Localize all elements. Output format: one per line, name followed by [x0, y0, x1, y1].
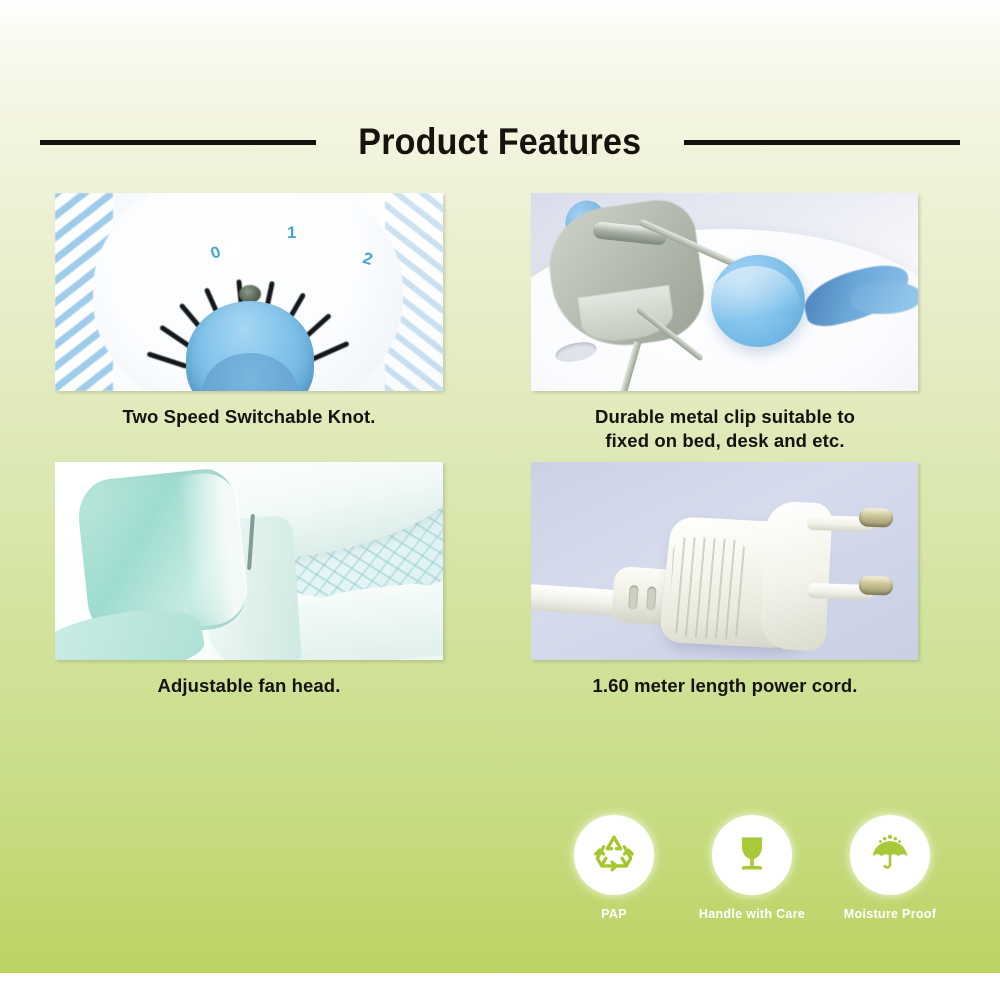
badge-pap: PAP: [556, 815, 672, 921]
dial-label-1: 1: [287, 223, 296, 243]
feature-photo-speed-knob: 0 1 2: [55, 193, 443, 391]
badge-label: Handle with Care: [699, 907, 805, 921]
plug-pin-tip-bottom: [859, 575, 894, 595]
badge-handle-with-care: Handle with Care: [694, 815, 810, 921]
feature-item-metal-clip: Durable metal clip suitable to fixed on …: [531, 193, 919, 452]
feature-caption-metal-clip: Durable metal clip suitable to fixed on …: [531, 405, 919, 452]
feature-item-fan-head: Adjustable fan head.: [55, 462, 443, 698]
badge-circle: [574, 815, 654, 895]
badge-circle: [850, 815, 930, 895]
feature-photo-fan-head: [55, 462, 443, 660]
feature-item-speed-knob: 0 1 2 Two Speed Switchable Knot.: [55, 193, 443, 429]
feature-caption-speed-knob: Two Speed Switchable Knot.: [55, 405, 443, 429]
feature-caption-power-cord: 1.60 meter length power cord.: [531, 674, 919, 698]
umbrella-icon: [868, 831, 912, 880]
dial-label-0: 0: [208, 242, 224, 264]
badge-label: PAP: [601, 907, 627, 921]
plug-grip-ribs: [668, 536, 747, 640]
dial-tick: [147, 351, 188, 369]
product-features-infographic: Product Features 0: [0, 0, 1000, 1000]
badge-circle: [712, 815, 792, 895]
dial-label-2: 2: [360, 248, 375, 270]
badge-label: Moisture Proof: [844, 907, 936, 921]
caption-line-1: Two Speed Switchable Knot.: [122, 406, 375, 427]
feature-caption-fan-head: Adjustable fan head.: [55, 674, 443, 698]
feature-item-power-cord: 1.60 meter length power cord.: [531, 462, 919, 698]
handling-badges: PAP Handle with Care: [556, 815, 948, 945]
feature-photo-metal-clip: [531, 193, 918, 391]
speed-dial: 0 1 2: [115, 205, 385, 391]
caption-line-1: Durable metal clip suitable to: [531, 405, 919, 429]
recycling-icon: [591, 830, 637, 881]
feature-photo-power-cord: [531, 462, 918, 660]
dial-tick: [309, 341, 349, 363]
caption-line-1: 1.60 meter length power cord.: [592, 675, 857, 696]
badge-moisture-proof: Moisture Proof: [832, 815, 948, 921]
caption-line-2: fixed on bed, desk and etc.: [531, 429, 919, 453]
plug-pin-tip-top: [859, 507, 894, 527]
speed-knob: [186, 301, 314, 391]
wine-glass-icon: [730, 831, 774, 880]
caption-line-1: Adjustable fan head.: [158, 675, 341, 696]
